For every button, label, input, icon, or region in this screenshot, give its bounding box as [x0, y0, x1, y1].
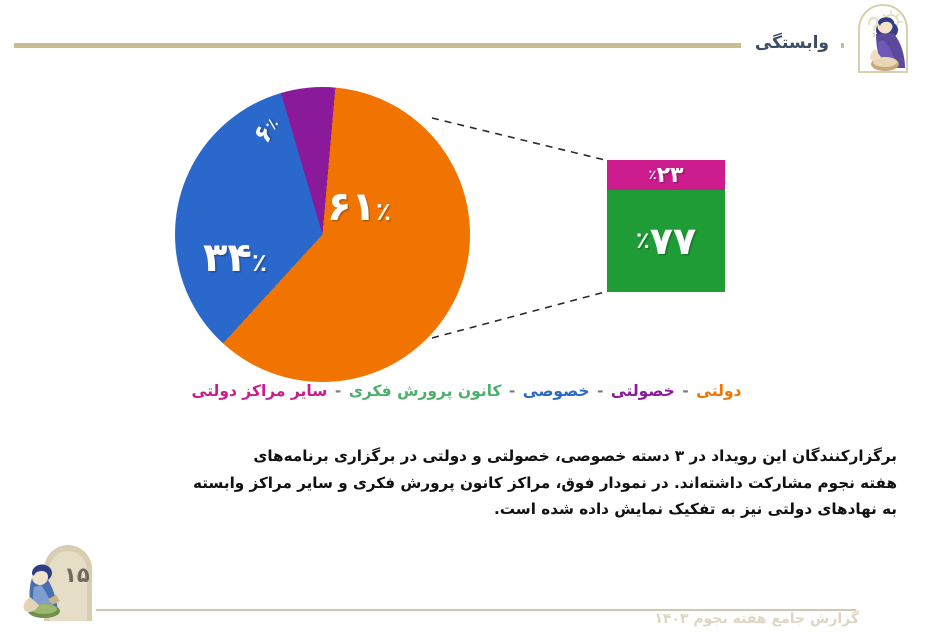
stacked-bar-callout[interactable]: ۲۳٪ ۷۷٪	[607, 160, 725, 292]
legend-separator: -	[595, 382, 605, 400]
bar-segment-value-0: ۲۳	[657, 163, 684, 188]
body-line-1: برگزارکنندگان این رویداد در ۳ دسته خصوصی…	[35, 443, 897, 470]
page-title: وابستگی	[741, 28, 841, 58]
legend-separator: -	[680, 382, 690, 400]
bar-segment-value-1: ۷۷	[650, 219, 696, 263]
body-line-2: هفته نجوم مشارکت داشته‌اند. در نمودار فو…	[35, 470, 897, 497]
pie-chart[interactable]: ۶۱٪ ۳۴٪ ۶٪	[175, 87, 470, 382]
body-line-3: به نهادهای دولتی نیز به تفکیک نمایش داده…	[35, 496, 897, 523]
body-paragraph: برگزارکنندگان این رویداد در ۳ دسته خصوصی…	[35, 443, 897, 523]
bar-segment-sayer-marakez: ۲۳٪	[607, 160, 725, 190]
bar-segment-kanoon-parvaresh: ۷۷٪	[607, 190, 725, 292]
legend-item-khosusi[interactable]: خصوصی	[523, 382, 590, 400]
page-number-badge: ۱۵	[6, 535, 124, 631]
page-number: ۱۵	[64, 563, 90, 587]
pie-slice-value-0: ۶۱	[327, 184, 376, 230]
pie-slice-percent-1: ٪	[252, 248, 267, 277]
astronomer-emblem-icon	[845, 2, 921, 76]
charts-region: ۶۱٪ ۳۴٪ ۶٪ ۲۳٪ ۷۷٪	[0, 82, 933, 382]
header-divider-rule	[14, 43, 844, 48]
legend-separator: -	[507, 382, 517, 400]
footer-caption: گزارش جامع هفته نجوم ۱۴۰۳	[646, 611, 865, 627]
bar-segment-percent-1: ٪	[636, 228, 650, 254]
legend-item-dolati[interactable]: دولتی	[696, 382, 741, 400]
chart-legend: دولتی - خصولتی - خصوصی - کانون پرورش فکر…	[0, 382, 933, 400]
pie-slice-label-dolati: ۶۱٪	[327, 184, 391, 230]
bar-segment-percent-0: ٪	[649, 168, 657, 183]
legend-separator: -	[333, 382, 343, 400]
legend-item-kanoon[interactable]: کانون پرورش فکری	[349, 382, 502, 400]
slide-root: وابستگی	[0, 0, 933, 639]
legend-item-sayer[interactable]: سایر مراکز دولتی	[191, 382, 327, 400]
pie-slice-label-khosolati: ۳۴٪	[203, 235, 267, 281]
pie-slice-value-1: ۳۴	[203, 235, 252, 281]
slide-header: وابستگی	[0, 0, 933, 88]
legend-item-khosolati[interactable]: خصولتی	[611, 382, 675, 400]
slide-footer: گزارش جامع هفته نجوم ۱۴۰۳ ۱۵	[0, 535, 933, 639]
pie-slice-percent-0: ٪	[376, 197, 391, 226]
